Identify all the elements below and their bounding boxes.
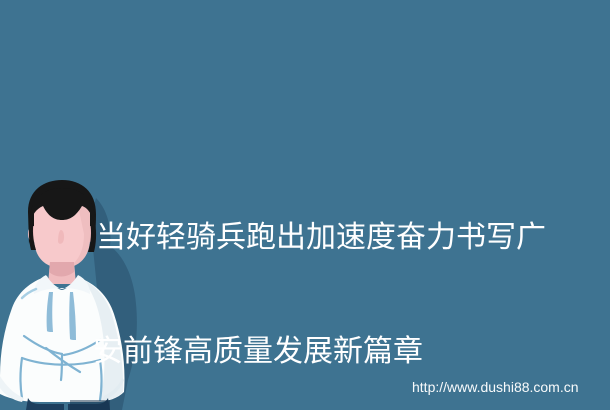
pants-gap: [64, 402, 68, 410]
headline-line-2: 安前锋高质量发展新篇章: [93, 333, 596, 371]
headline-title: 当好轻骑兵跑出加速度奋力书写广 安前锋高质量发展新篇章: [96, 143, 596, 410]
headline-line-1: 当好轻骑兵跑出加速度奋力书写广: [96, 219, 596, 257]
watermark-url: http://www.dushi88.com.cn: [412, 379, 579, 395]
image-canvas: 当好轻骑兵跑出加速度奋力书写广 安前锋高质量发展新篇章 http://www.d…: [0, 0, 610, 410]
